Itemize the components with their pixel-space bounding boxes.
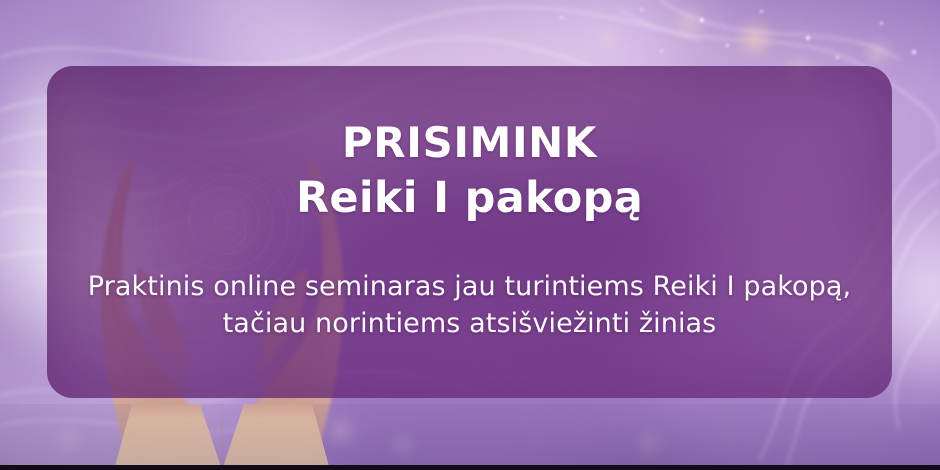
bottom-dark-strip — [0, 465, 940, 470]
banner-subtitle: Praktinis online seminaras jau turintiem… — [80, 268, 860, 343]
banner-content: PRISIMINK Reiki I pakopą Praktinis onlin… — [47, 66, 892, 398]
reiki-promo-banner: PRISIMINK Reiki I pakopą Praktinis onlin… — [0, 0, 940, 470]
headline-line-2: Reiki I pakopą — [296, 174, 643, 222]
headline-line-1: PRISIMINK — [342, 122, 597, 164]
